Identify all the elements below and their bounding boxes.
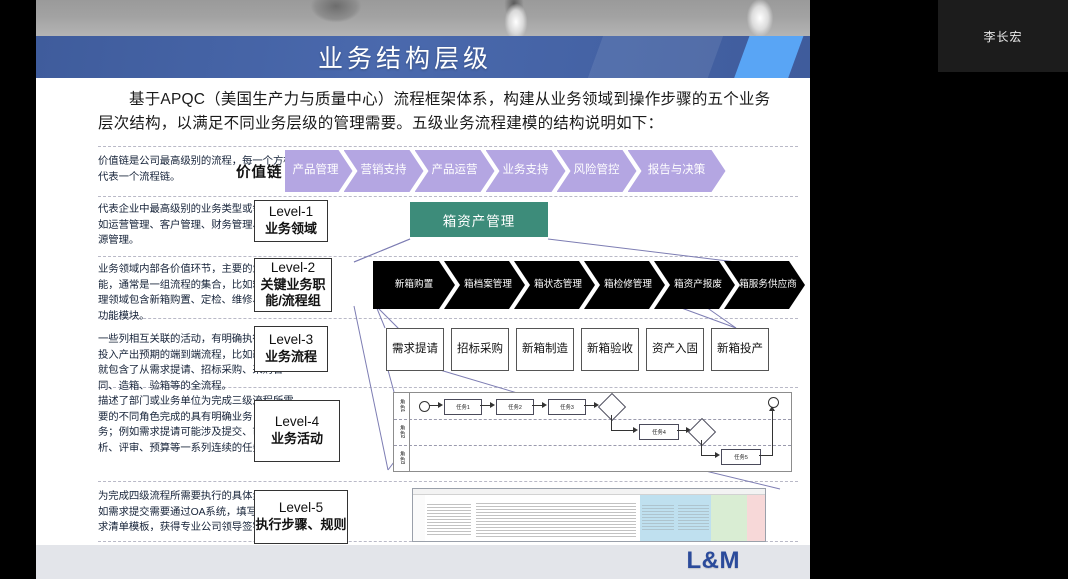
swimlane-header-3: 角色3 bbox=[394, 445, 410, 471]
level-1-title: Level-1 bbox=[269, 204, 313, 221]
task-4[interactable]: 任务4 bbox=[639, 424, 679, 440]
level-3-box-5[interactable]: 资产入固 bbox=[646, 328, 704, 371]
level-3-process-boxes: 需求提请 招标采购 新箱制造 新箱验收 资产入固 新箱投产 bbox=[386, 328, 769, 371]
arrow-head-icon bbox=[490, 402, 495, 408]
level-4-title: Level-4 bbox=[275, 414, 319, 431]
level-4-subtitle: 业务活动 bbox=[271, 431, 323, 447]
spreadsheet-text-lines bbox=[476, 503, 636, 537]
task-label: 任务4 bbox=[652, 428, 666, 436]
flow-arrow bbox=[701, 440, 702, 456]
task-1[interactable]: 任务1 bbox=[444, 399, 482, 415]
flow-arrow bbox=[611, 415, 612, 431]
chevron-label: 营销支持 bbox=[361, 164, 407, 177]
arrow-head-icon bbox=[542, 402, 547, 408]
box-label: 新箱验收 bbox=[587, 343, 633, 357]
value-chain-label: 价值链 bbox=[236, 161, 283, 182]
level-2-chevron-3[interactable]: 箱状态管理 bbox=[514, 261, 595, 309]
chevron-label: 报告与决策 bbox=[648, 164, 706, 177]
row-separator bbox=[98, 256, 798, 257]
value-chain-chevron-1[interactable]: 产品管理 bbox=[285, 150, 353, 192]
level-4-badge[interactable]: Level-4 业务活动 bbox=[254, 400, 340, 462]
chevron-label: 箱档案管理 bbox=[464, 280, 512, 291]
spreadsheet-text-lines bbox=[678, 505, 709, 531]
level-2-chevron-1[interactable]: 新箱购置 bbox=[373, 261, 455, 309]
participant-tile[interactable]: 李长宏 bbox=[938, 0, 1068, 72]
presentation-slide: 业务结构层级 基于APQC（美国生产力与质量中心）流程框架体系，构建从业务领域到… bbox=[36, 0, 810, 579]
level-4-flow-diagram[interactable]: 角色1 角色2 角色3 任务1 任务2 任务3 任务4 bbox=[393, 392, 792, 472]
level-5-subtitle: 执行步骤、规则 bbox=[255, 517, 346, 533]
level-2-ellipsis: ····· bbox=[763, 276, 795, 291]
row-separator bbox=[98, 196, 798, 197]
arrow-head-icon bbox=[715, 452, 720, 458]
flow-arrow bbox=[759, 455, 773, 456]
slide-footer: L&M bbox=[36, 545, 810, 579]
level-1-subtitle: 业务领域 bbox=[265, 221, 317, 237]
level-3-title: Level-3 bbox=[269, 332, 313, 349]
level-3-box-6[interactable]: 新箱投产 bbox=[711, 328, 769, 371]
swimlane-header-1: 角色1 bbox=[394, 393, 410, 419]
value-chain-chevron-2[interactable]: 营销支持 bbox=[344, 150, 424, 192]
value-chain-chevron-4[interactable]: 业务支持 bbox=[486, 150, 566, 192]
slide-title: 业务结构层级 bbox=[318, 36, 748, 78]
level-2-chevron-chain: 新箱购置 箱档案管理 箱状态管理 箱检修管理 箱资产报废 箱服务供应商 bbox=[373, 261, 794, 309]
level-5-title: Level-5 bbox=[279, 500, 323, 517]
level-1-box-asset-management[interactable]: 箱资产管理 bbox=[410, 202, 548, 237]
task-label: 任务2 bbox=[508, 403, 522, 411]
end-event-icon bbox=[768, 397, 779, 408]
task-label: 任务3 bbox=[560, 403, 574, 411]
row-separator bbox=[98, 481, 798, 482]
swimlane-header-2: 角色2 bbox=[394, 419, 410, 445]
task-5[interactable]: 任务5 bbox=[721, 449, 761, 465]
participant-name: 李长宏 bbox=[983, 28, 1022, 45]
spreadsheet-col-i bbox=[759, 495, 766, 541]
box-label: 需求提请 bbox=[392, 343, 438, 357]
level-3-box-3[interactable]: 新箱制造 bbox=[516, 328, 574, 371]
box-label: 新箱制造 bbox=[522, 343, 568, 357]
value-chain-chevron-6[interactable]: 报告与决策 bbox=[628, 150, 726, 192]
swimlane-2 bbox=[394, 419, 791, 446]
box-label: 新箱投产 bbox=[717, 343, 763, 357]
slide-intro-paragraph: 基于APQC（美国生产力与质量中心）流程框架体系，构建从业务领域到操作步骤的五个… bbox=[98, 88, 780, 136]
value-chain-diagram: 价值链 产品管理 营销支持 产品运营 业务支持 风险管控 报告与决策 bbox=[236, 150, 717, 192]
task-3[interactable]: 任务3 bbox=[548, 399, 586, 415]
box-label: 招标采购 bbox=[457, 343, 503, 357]
flow-arrow bbox=[611, 430, 635, 431]
level-2-title: Level-2 bbox=[271, 260, 315, 277]
chevron-label: 箱状态管理 bbox=[534, 280, 582, 291]
level-5-badge[interactable]: Level-5 执行步骤、规则 bbox=[254, 490, 348, 544]
level-1-badge[interactable]: Level-1 业务领域 bbox=[254, 200, 328, 242]
value-chain-chevron-3[interactable]: 产品运营 bbox=[415, 150, 495, 192]
swimlane-label: 角色3 bbox=[399, 451, 404, 464]
level-3-subtitle: 业务流程 bbox=[265, 349, 317, 365]
level-3-badge[interactable]: Level-3 业务流程 bbox=[254, 326, 328, 372]
chevron-label: 箱检修管理 bbox=[604, 280, 652, 291]
start-event-icon bbox=[419, 401, 430, 412]
swimlane-label: 角色2 bbox=[399, 425, 404, 438]
chevron-label: 业务支持 bbox=[503, 164, 549, 177]
value-chain-chevron-5[interactable]: 风险管控 bbox=[557, 150, 637, 192]
spreadsheet-text-lines bbox=[427, 504, 471, 536]
company-logo: L&M bbox=[687, 547, 740, 575]
level-3-box-4[interactable]: 新箱验收 bbox=[581, 328, 639, 371]
level-2-chevron-4[interactable]: 箱检修管理 bbox=[584, 261, 665, 309]
task-label: 任务5 bbox=[734, 453, 748, 461]
level-3-box-1[interactable]: 需求提请 bbox=[386, 328, 444, 371]
chevron-label: 箱资产报废 bbox=[674, 280, 722, 291]
box-label: 资产入固 bbox=[652, 343, 698, 357]
level-2-chevron-2[interactable]: 箱档案管理 bbox=[444, 261, 525, 309]
slide-header-photo bbox=[36, 0, 810, 36]
task-label: 任务1 bbox=[456, 403, 470, 411]
arrow-head-icon bbox=[633, 427, 638, 433]
row-separator bbox=[98, 146, 798, 147]
flow-arrow bbox=[772, 411, 773, 455]
meeting-screen: 李长宏 业务结构层级 基于APQC（美国生产力与质量中心）流程框架体系，构建从业… bbox=[0, 0, 1068, 579]
level-2-subtitle: 关键业务职能/流程组 bbox=[255, 277, 331, 310]
level-2-badge[interactable]: Level-2 关键业务职能/流程组 bbox=[254, 258, 332, 312]
chevron-label: 产品管理 bbox=[293, 164, 339, 177]
level-1-box-label: 箱资产管理 bbox=[443, 210, 516, 230]
swimlane-label: 角色1 bbox=[399, 399, 404, 412]
arrow-head-icon bbox=[438, 402, 443, 408]
task-2[interactable]: 任务2 bbox=[496, 399, 534, 415]
level-2-chevron-5[interactable]: 箱资产报废 bbox=[654, 261, 735, 309]
level-5-spreadsheet-thumbnail[interactable] bbox=[412, 488, 766, 542]
level-3-box-2[interactable]: 招标采购 bbox=[451, 328, 509, 371]
chevron-label: 风险管控 bbox=[574, 164, 620, 177]
chevron-label: 新箱购置 bbox=[395, 280, 433, 291]
chevron-label: 产品运营 bbox=[432, 164, 478, 177]
spreadsheet-text-lines bbox=[642, 505, 674, 531]
